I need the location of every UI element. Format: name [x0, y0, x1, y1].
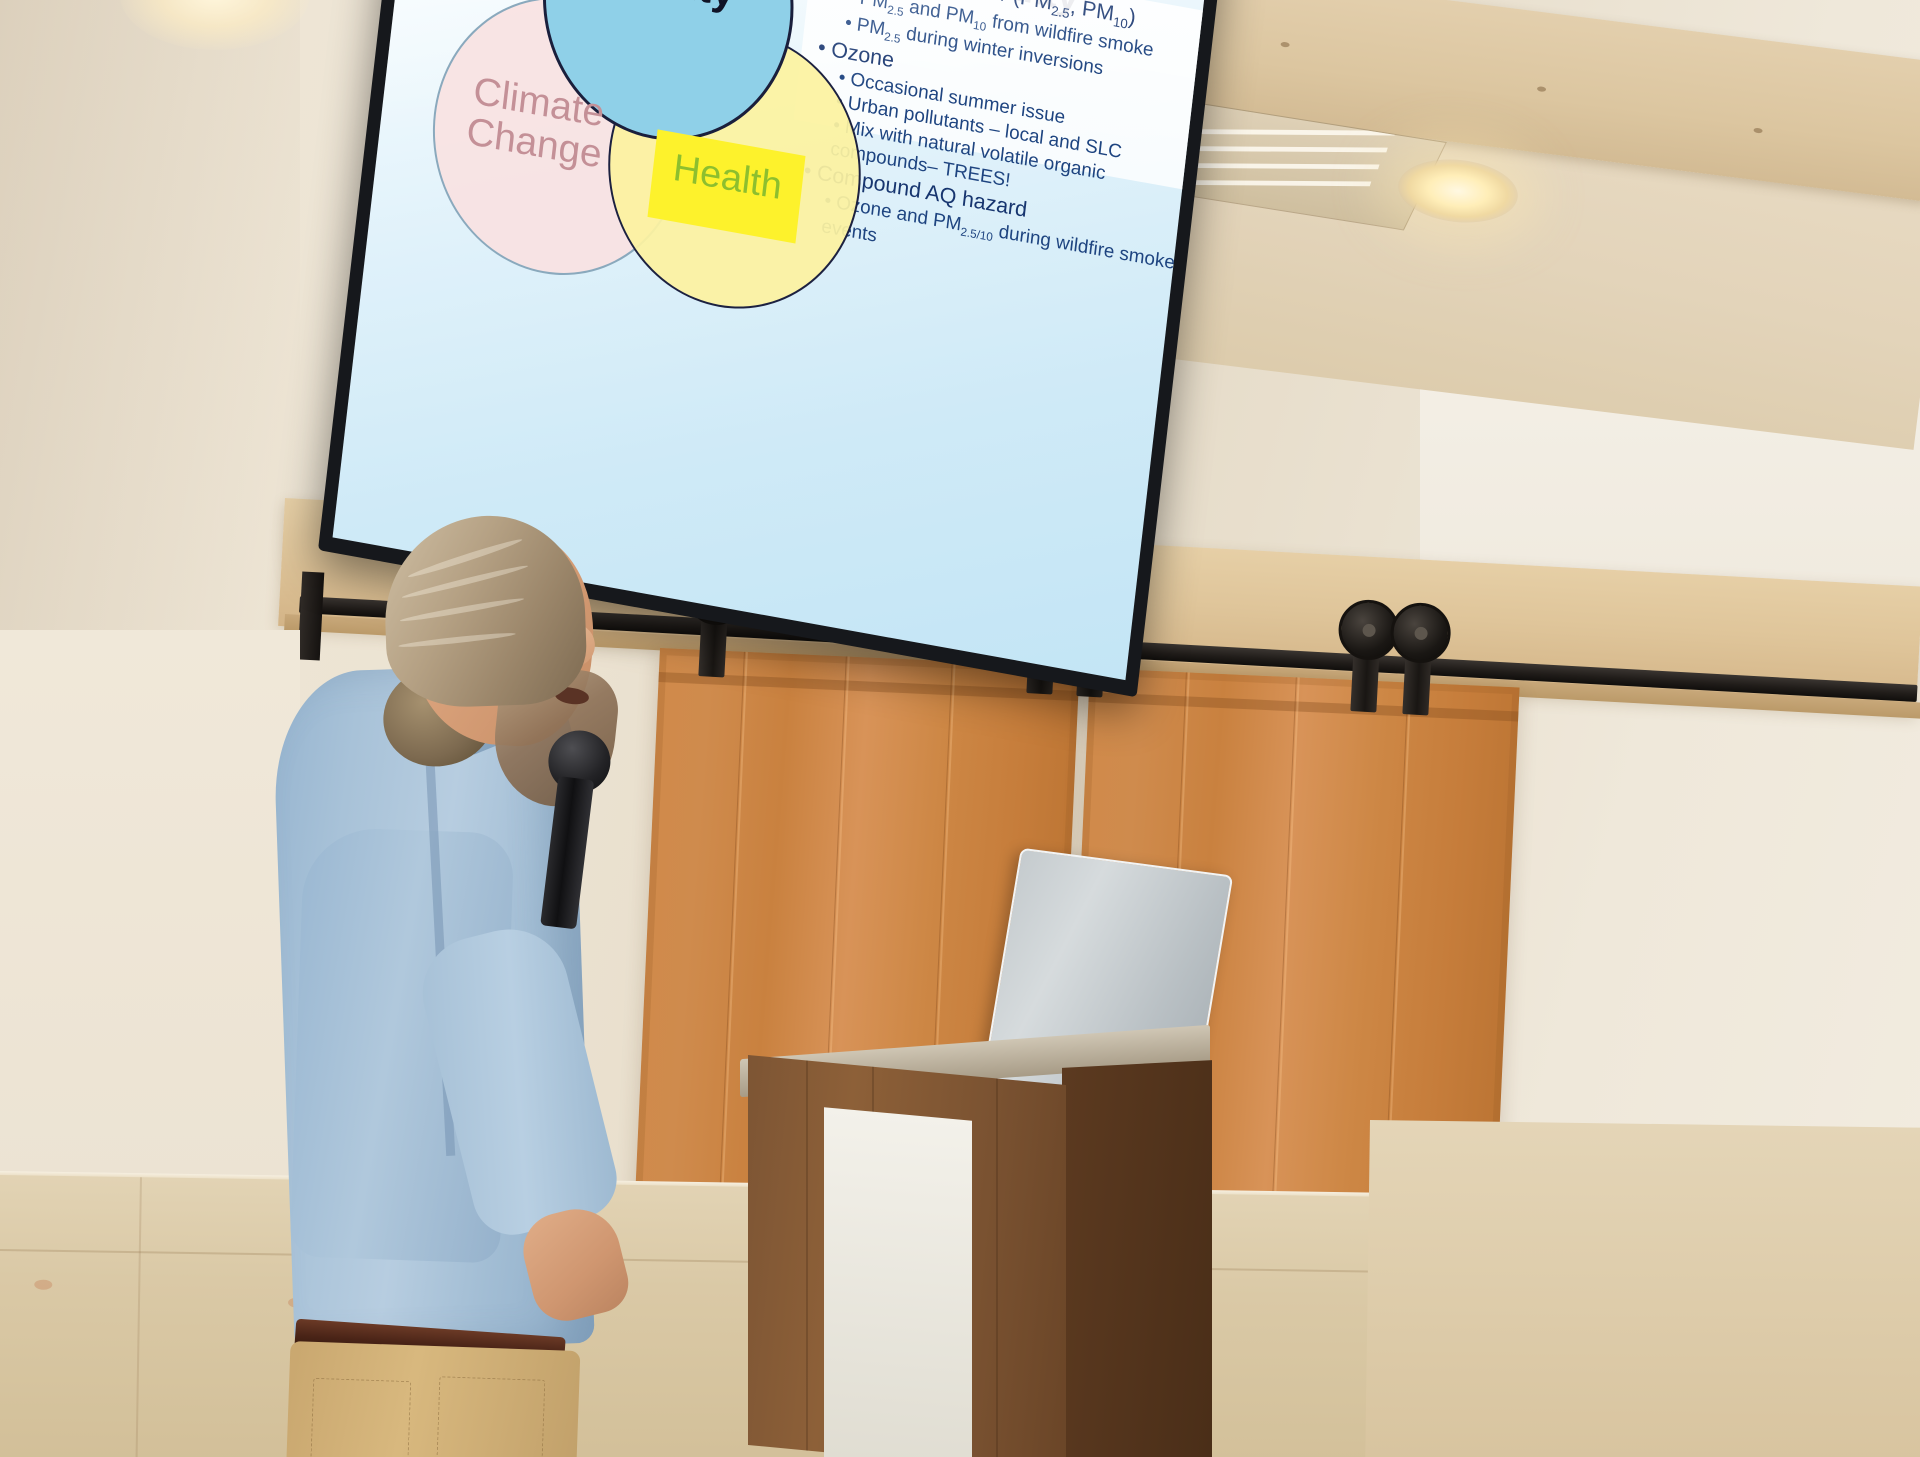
apple-logo-icon	[1083, 964, 1118, 1002]
wooden-podium	[740, 1030, 1220, 1457]
presenter-pants	[284, 1341, 581, 1457]
presentation-photo-scene: Summit County Air Quality Air quality Cl…	[0, 0, 1920, 1457]
podium-paper-sheet	[824, 1107, 972, 1457]
podium-side-panel	[1062, 1060, 1212, 1457]
venn-diagram: Air quality Climate Change Health	[386, 0, 840, 411]
baseboard-right-section	[1365, 1120, 1920, 1457]
presenter-person	[255, 500, 815, 1457]
microphone-body	[540, 776, 594, 929]
presenter-hair	[382, 513, 589, 710]
